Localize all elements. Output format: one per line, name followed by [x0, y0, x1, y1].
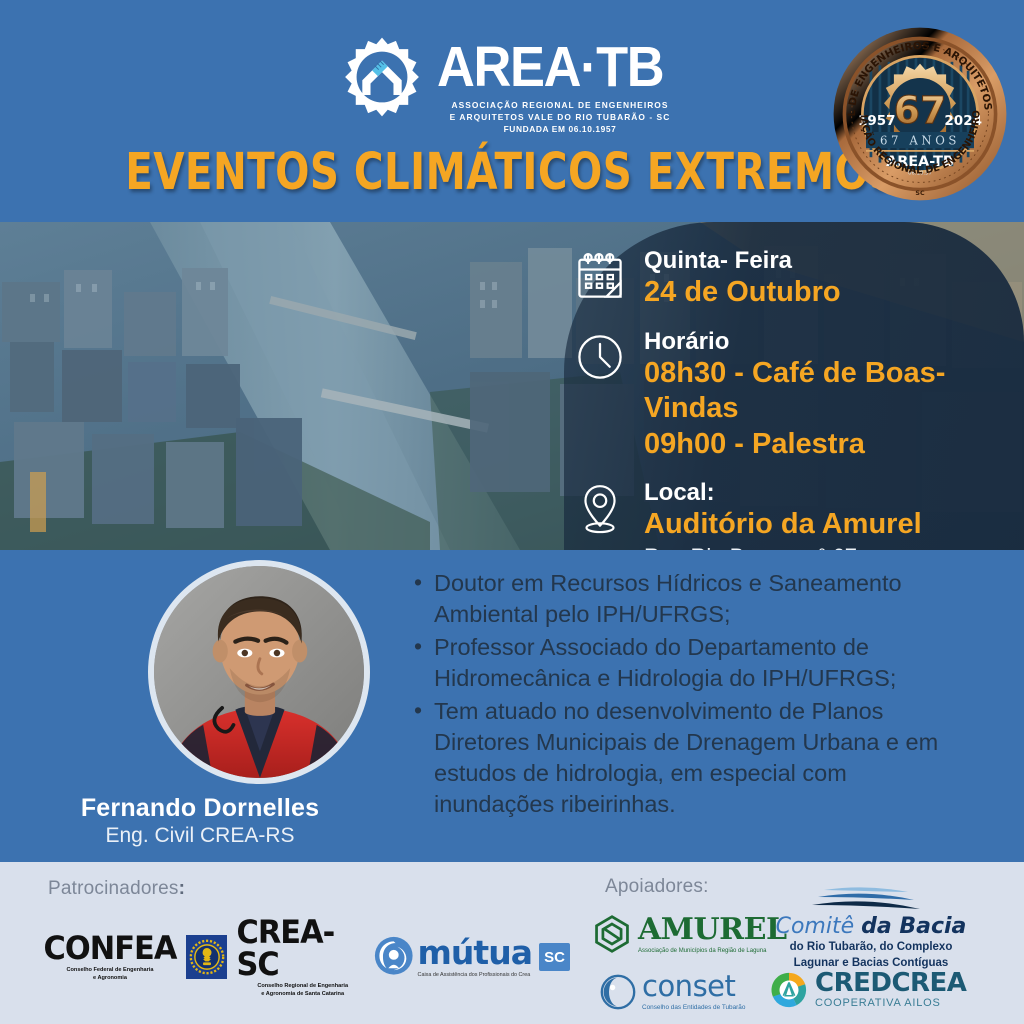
mutua-wordmark: mútua	[418, 936, 532, 969]
mutua-sc-badge: SC	[539, 943, 570, 971]
credcrea-logo: CREDCREA COOPERATIVA AILOS	[770, 970, 966, 1009]
comite-wordmark: Comitê da Bacia	[766, 915, 976, 939]
gear-house-logo	[341, 36, 423, 118]
confea-wordmark: CONFEA	[43, 932, 176, 964]
poster-header: AREA·TB ASSOCIAÇÃO REGIONAL DE ENGENHEIR…	[0, 0, 1024, 222]
conset-tagline: Conselho das Entidades de Tubarão	[642, 1004, 745, 1011]
comite-word-2: da Bacia	[861, 914, 966, 939]
bio-item: Professor Associado do Departamento de H…	[410, 632, 954, 694]
speaker-role: Eng. Civil CREA-RS	[0, 824, 400, 848]
event-place-label: Local:	[644, 478, 1002, 507]
speaker-portrait	[148, 560, 370, 784]
confea-tagline-2: e Agronomia	[66, 975, 153, 983]
poster-footer: Patrocinadores: CONFEA Conselho Federal …	[0, 862, 1024, 1024]
sponsor-logos: CONFEA Conselho Federal de Engenharia e …	[40, 916, 570, 998]
supporters-section: Apoiadores: AMUREL Associação de Municíp…	[570, 862, 1024, 1024]
confea-tagline: Conselho Federal de Engenharia e Agronom…	[66, 967, 153, 982]
event-details: Quinta- Feira 24 de Outubro Horário 08h3…	[572, 246, 1002, 550]
event-date-value: 24 de Outubro	[644, 275, 1002, 310]
event-time-row: Horário 08h30 - Café de Boas-Vindas 09h0…	[572, 327, 1002, 462]
event-address-line-1: Rua Rio Branco n° 67	[644, 543, 1002, 550]
calendar-icon	[572, 246, 628, 302]
amurel-logo: AMUREL Associação de Municípios da Regiã…	[592, 914, 787, 954]
bio-item: Doutor em Recursos Hídricos e Saneamento…	[410, 568, 954, 630]
crea-sc-logo: CREA-SC Conselho Regional de Engenharia …	[233, 916, 372, 998]
comite-da-bacia-logo: Comitê da Bacia do Rio Tubarão, do Compl…	[766, 884, 976, 971]
brand-sub-line-2: E ARQUITETOS VALE DO RIO TUBARÃO - SC	[437, 112, 683, 124]
speaker-bio: Doutor em Recursos Hídricos e Saneamento…	[400, 550, 1024, 862]
amurel-mark-icon	[592, 914, 632, 954]
brand-sub-line-3: FUNDADA EM 06.10.1957	[437, 124, 683, 136]
crea-sc-tagline: Conselho Regional de Engenharia e Agrono…	[257, 983, 348, 998]
mutua-tagline: Caixa de Assistência dos Profissionais d…	[418, 972, 532, 978]
avatar	[154, 566, 364, 778]
cityscape-photo-band: Quinta- Feira 24 de Outubro Horário 08h3…	[0, 222, 1024, 550]
wave-icon	[806, 884, 936, 910]
sponsors-section: Patrocinadores: CONFEA Conselho Federal …	[0, 862, 570, 1024]
credcrea-wordmark: CREDCREA	[815, 970, 966, 996]
mutua-mark-icon	[374, 936, 413, 978]
page-title: EVENTOS CLIMÁTICOS EXTREMOS	[61, 143, 962, 202]
crea-sc-wordmark: CREA-SC	[237, 916, 369, 980]
conset-wordmark: conset	[642, 972, 745, 1001]
brand-name: AREA·TB	[437, 40, 663, 95]
brand-text: AREA·TB ASSOCIAÇÃO REGIONAL DE ENGENHEIR…	[437, 34, 683, 135]
speaker-profile: Fernando Dornelles Eng. Civil CREA-RS	[0, 550, 400, 862]
confea-logo: CONFEA Conselho Federal de Engenharia e …	[40, 932, 180, 982]
event-time-value-1: 08h30 - Café de Boas-Vindas	[644, 356, 1002, 427]
event-time-value-2: 09h00 - Palestra	[644, 427, 1002, 462]
location-pin-icon	[572, 478, 628, 536]
speaker-name: Fernando Dornelles	[0, 794, 400, 823]
event-place-row: Local: Auditório da Amurel Rua Rio Branc…	[572, 478, 1002, 550]
crea-sc-tagline-2: e Agronomia de Santa Catarina	[257, 991, 348, 999]
sponsors-heading-text: Patrocinadores	[48, 878, 179, 899]
conset-mark-icon	[600, 974, 636, 1010]
crea-emblem-icon	[186, 935, 227, 979]
comite-tagline-1: do Rio Tubarão, do Complexo	[766, 941, 976, 955]
sponsors-heading: Patrocinadores:	[48, 878, 185, 900]
mutua-logo: mútua Caixa de Assistência dos Profissio…	[418, 936, 532, 978]
speaker-section: Fernando Dornelles Eng. Civil CREA-RS Do…	[0, 550, 1024, 862]
comite-word-1: Comitê	[776, 914, 855, 939]
event-date-label: Quinta- Feira	[644, 246, 1002, 275]
clock-icon	[572, 327, 628, 383]
conset-logo: conset Conselho das Entidades de Tubarão	[600, 972, 745, 1011]
credcrea-tagline: COOPERATIVA AILOS	[815, 997, 966, 1009]
supporters-heading: Apoiadores:	[605, 876, 709, 898]
bio-item: Tem atuado no desenvolvimento de Planos …	[410, 696, 954, 820]
brand-subtitle: ASSOCIAÇÃO REGIONAL DE ENGENHEIROS E ARQ…	[437, 100, 683, 136]
event-poster: AREA·TB ASSOCIAÇÃO REGIONAL DE ENGENHEIR…	[0, 0, 1024, 1024]
event-time-label: Horário	[644, 327, 1002, 356]
event-place-value: Auditório da Amurel	[644, 507, 1002, 542]
brand-sub-line-1: ASSOCIAÇÃO REGIONAL DE ENGENHEIROS	[437, 100, 683, 112]
event-date-row: Quinta- Feira 24 de Outubro	[572, 246, 1002, 311]
seal-number: 67	[894, 88, 947, 132]
seal-anos: 67 ANOS	[880, 134, 960, 148]
amurel-wordmark: AMUREL	[638, 915, 787, 945]
crea-sc-tagline-1: Conselho Regional de Engenharia	[257, 983, 348, 991]
sponsors-heading-colon: :	[179, 878, 186, 899]
seal-bottom-mark: SC	[915, 190, 925, 197]
amurel-tagline: Associação de Municípios da Região de La…	[638, 948, 787, 954]
confea-tagline-1: Conselho Federal de Engenharia	[66, 967, 153, 975]
credcrea-mark-icon	[770, 971, 808, 1009]
anniversary-seal-icon: 67 1957 2024 67 ANOS AREA-TB 06.10.57 AS…	[830, 24, 1010, 204]
